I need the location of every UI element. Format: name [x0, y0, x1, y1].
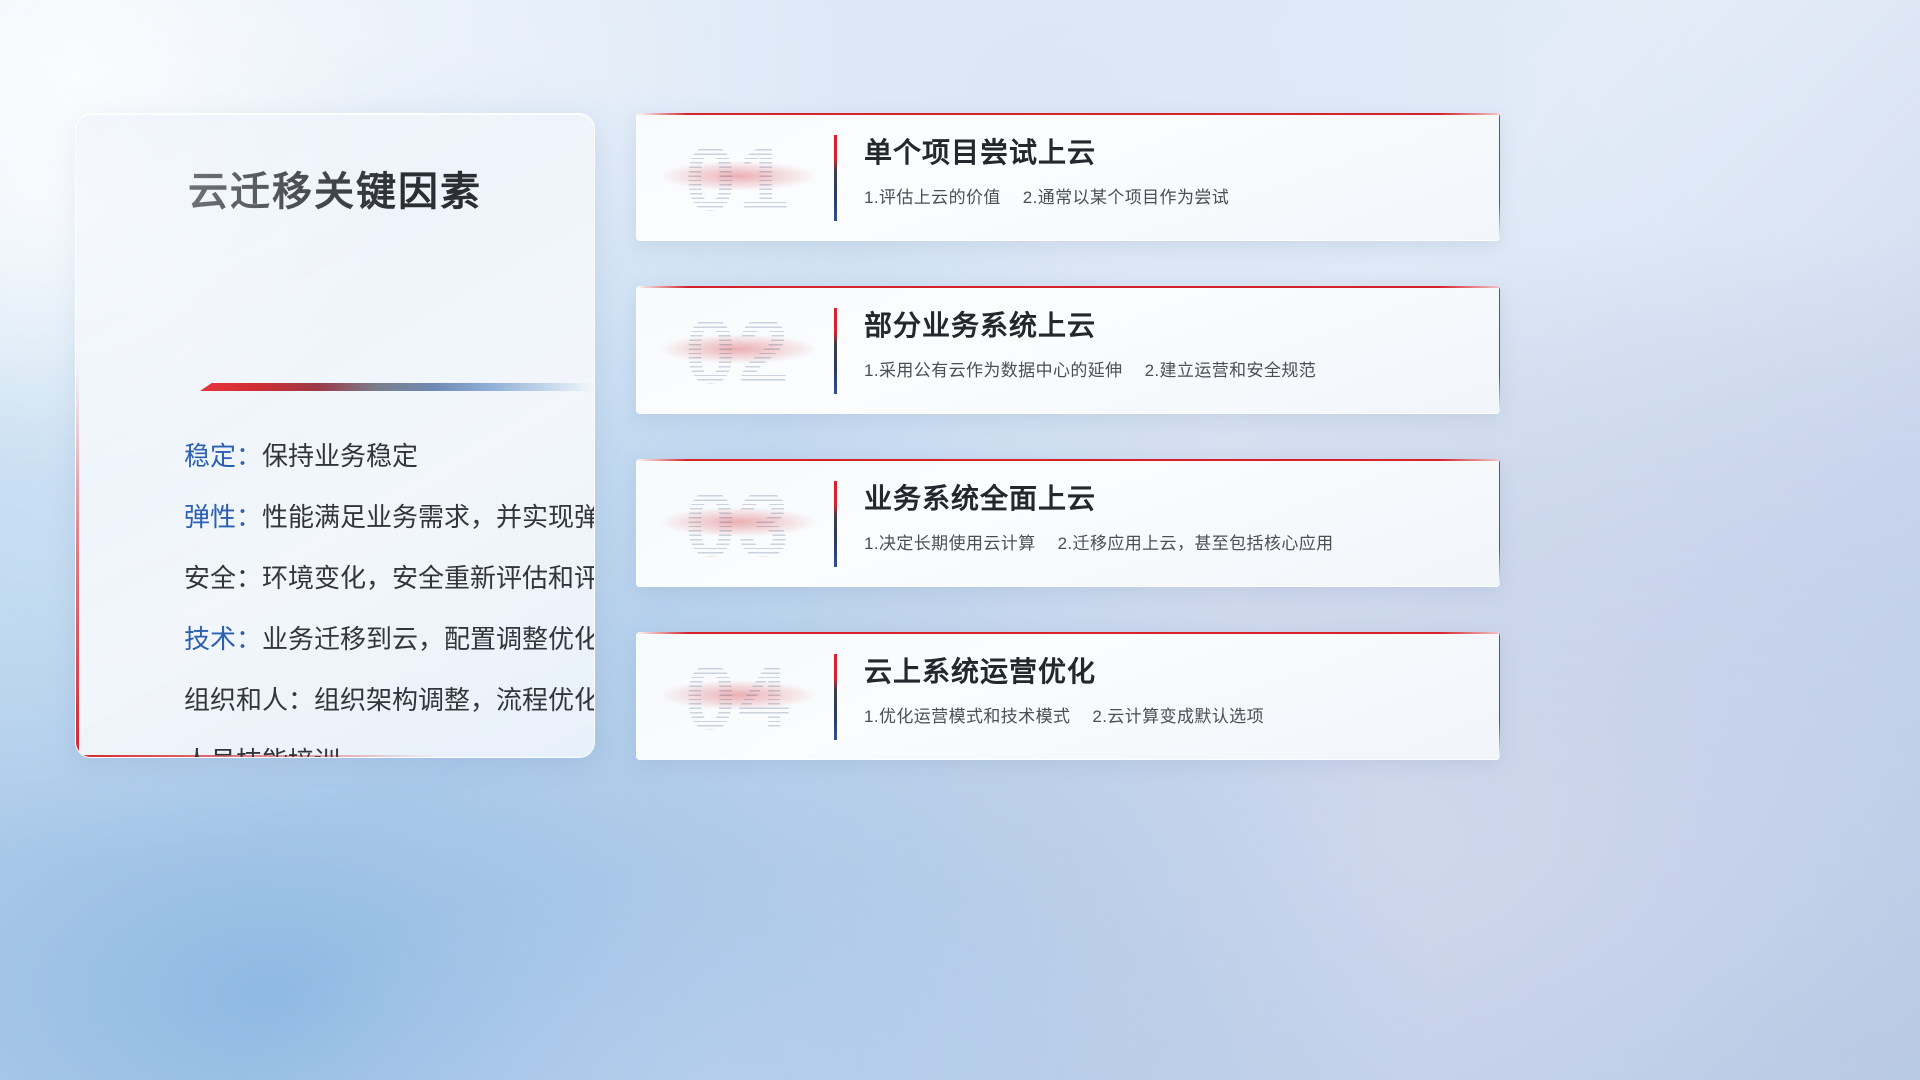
stage-accent-bar-03	[834, 481, 837, 567]
stage-subtitle-02: 1.采用公有云作为数据中心的延伸2.建立运营和安全规范	[864, 356, 1480, 381]
stage-number-02: 02	[658, 300, 818, 404]
stage-title-04: 云上系统运营优化	[864, 650, 1480, 690]
page-title: 云迁移关键因素	[76, 159, 594, 217]
factor-key-5: 组织和人：	[184, 685, 314, 715]
stage-point1-02: 1.采用公有云作为数据中心的延伸	[864, 361, 1123, 380]
slide-canvas: 云迁移关键因素 稳定：保持业务稳定 弹性：性能满足业务需求，并实现弹性 安全：环…	[0, 0, 1920, 1080]
stage-title-01: 单个项目尝试上云	[864, 131, 1480, 171]
stage-card-04[interactable]: 04 云上系统运营优化 1.优化运营模式和技术模式2.云计算变成默认选项	[636, 632, 1500, 760]
stage-accent-bar-02	[834, 308, 837, 394]
stage-point1-04: 1.优化运营模式和技术模式	[864, 707, 1070, 726]
stage-number-01: 01	[658, 127, 818, 231]
stage-point2-01: 2.通常以某个项目作为尝试	[1023, 188, 1229, 207]
key-factors-panel: 云迁移关键因素 稳定：保持业务稳定 弹性：性能满足业务需求，并实现弹性 安全：环…	[75, 113, 595, 758]
factor-key-1: 稳定：	[184, 441, 262, 471]
stage-body-03: 业务系统全面上云 1.决定长期使用云计算2.迁移应用上云，甚至包括核心应用	[864, 477, 1480, 554]
panel-left-accent	[76, 358, 79, 757]
stage-card-03[interactable]: 03 业务系统全面上云 1.决定长期使用云计算2.迁移应用上云，甚至包括核心应用	[636, 459, 1500, 587]
stage-title-02: 部分业务系统上云	[864, 304, 1480, 344]
factor-item-3: 安全：环境变化，安全重新评估和评审	[184, 548, 564, 609]
stage-body-02: 部分业务系统上云 1.采用公有云作为数据中心的延伸2.建立运营和安全规范	[864, 304, 1480, 381]
factor-text-5: 组织架构调整，流程优化，	[314, 685, 595, 715]
stage-subtitle-03: 1.决定长期使用云计算2.迁移应用上云，甚至包括核心应用	[864, 529, 1480, 554]
stage-point2-03: 2.迁移应用上云，甚至包括核心应用	[1058, 534, 1334, 553]
stage-body-01: 单个项目尝试上云 1.评估上云的价值2.通常以某个项目作为尝试	[864, 131, 1480, 208]
factor-key-4: 技术：	[184, 624, 262, 654]
factor-text-2: 性能满足业务需求，并实现弹性	[262, 502, 595, 532]
factor-item-1: 稳定：保持业务稳定	[184, 426, 564, 487]
stage-point1-03: 1.决定长期使用云计算	[864, 534, 1036, 553]
title-underline-gradient	[200, 383, 593, 391]
stage-body-04: 云上系统运营优化 1.优化运营模式和技术模式2.云计算变成默认选项	[864, 650, 1480, 727]
stage-number-03: 03	[658, 473, 818, 577]
stage-card-list: 01 单个项目尝试上云 1.评估上云的价值2.通常以某个项目作为尝试 02 部分…	[636, 113, 1500, 805]
factor-list: 稳定：保持业务稳定 弹性：性能满足业务需求，并实现弹性 安全：环境变化，安全重新…	[184, 426, 564, 758]
factor-text-4: 业务迁移到云，配置调整优化	[262, 624, 595, 654]
factor-item-6: 人员技能培训	[184, 731, 564, 758]
stage-point2-04: 2.云计算变成默认选项	[1092, 707, 1264, 726]
stage-card-02[interactable]: 02 部分业务系统上云 1.采用公有云作为数据中心的延伸2.建立运营和安全规范	[636, 286, 1500, 414]
stage-point2-02: 2.建立运营和安全规范	[1145, 361, 1317, 380]
stage-title-03: 业务系统全面上云	[864, 477, 1480, 517]
stage-number-04: 04	[658, 646, 818, 750]
stage-card-01[interactable]: 01 单个项目尝试上云 1.评估上云的价值2.通常以某个项目作为尝试	[636, 113, 1500, 241]
factor-key-3: 安全：	[184, 563, 262, 593]
factor-item-4: 技术：业务迁移到云，配置调整优化	[184, 609, 564, 670]
factor-item-2: 弹性：性能满足业务需求，并实现弹性	[184, 487, 564, 548]
stage-subtitle-04: 1.优化运营模式和技术模式2.云计算变成默认选项	[864, 702, 1480, 727]
stage-subtitle-01: 1.评估上云的价值2.通常以某个项目作为尝试	[864, 183, 1480, 208]
stage-accent-bar-04	[834, 654, 837, 740]
stage-point1-01: 1.评估上云的价值	[864, 188, 1001, 207]
stage-accent-bar-01	[834, 135, 837, 221]
factor-text-3: 环境变化，安全重新评估和评审	[262, 563, 595, 593]
factor-text-6: 人员技能培训	[184, 746, 340, 758]
factor-item-5: 组织和人：组织架构调整，流程优化，	[184, 670, 564, 731]
factor-key-2: 弹性：	[184, 502, 262, 532]
factor-text-1: 保持业务稳定	[262, 441, 418, 471]
